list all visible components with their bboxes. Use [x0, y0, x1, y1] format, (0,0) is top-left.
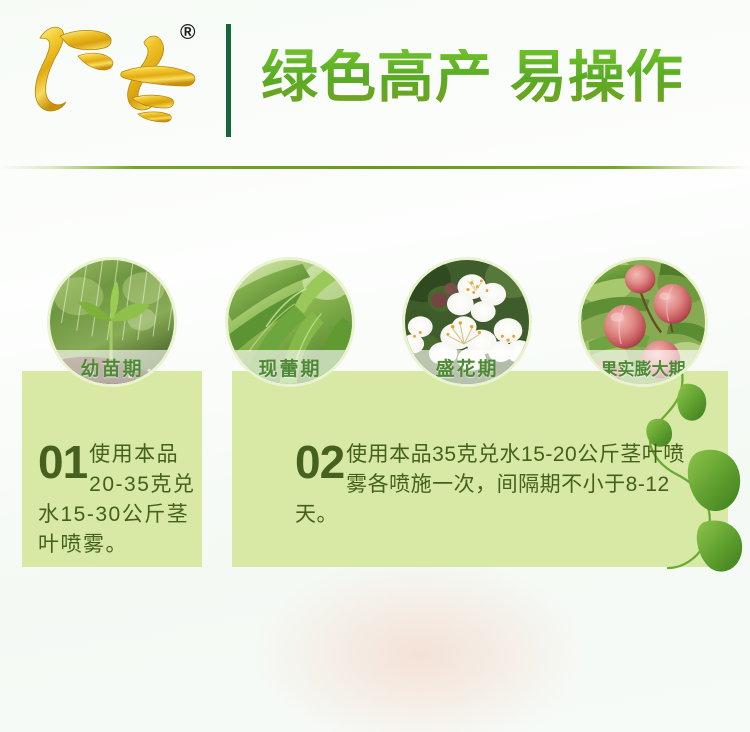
stage-circle-budding: 现蕾期	[225, 257, 355, 387]
step-number-1: 01	[38, 442, 87, 483]
brand-logo: ®	[22, 10, 222, 150]
page-header: ® 绿色高产 易操作	[0, 0, 750, 160]
instruction-step-2: 02 使用本品35克兑水15-20公斤茎叶喷雾各喷施一次，间隔期不小于8-12天…	[295, 440, 695, 530]
instruction-step-1: 01 使用本品20-35克兑水15-30公斤茎叶喷雾。	[38, 440, 203, 560]
registered-trademark-icon: ®	[180, 22, 195, 43]
stage-label-fruit-swelling: 果实膨大期	[581, 350, 705, 384]
header-divider	[226, 24, 231, 137]
stage-label-seedling: 幼苗期	[50, 350, 174, 384]
logo-calligraphy-icon	[26, 16, 201, 136]
step-text-2: 使用本品35克兑水15-20公斤茎叶喷雾各喷施一次，间隔期不小于8-12天。	[295, 443, 685, 526]
promo-page: ® 绿色高产 易操作	[0, 0, 750, 732]
step-number-2: 02	[295, 442, 344, 483]
stage-circle-seedling: 幼苗期	[47, 257, 177, 387]
stage-label-full-bloom: 盛花期	[405, 350, 529, 384]
page-title: 绿色高产 易操作	[261, 49, 684, 112]
header-rule	[0, 166, 750, 169]
stage-label-budding: 现蕾期	[228, 350, 352, 384]
stage-circle-full-bloom: 盛花期	[402, 257, 532, 387]
stage-circle-fruit-swelling: 果实膨大期	[578, 257, 708, 387]
